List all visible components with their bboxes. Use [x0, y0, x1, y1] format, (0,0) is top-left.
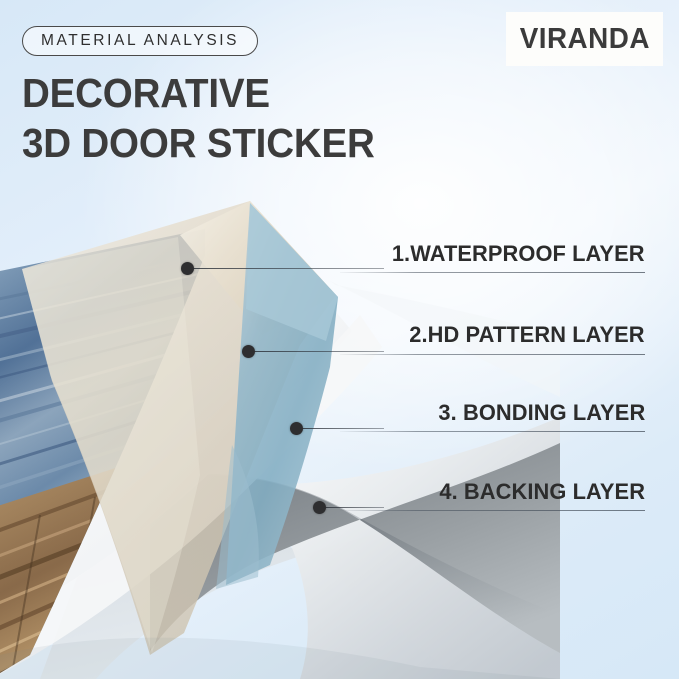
- badge-label: MATERIAL ANALYSIS: [41, 32, 239, 50]
- callout-dot-waterproof: [181, 262, 194, 275]
- leader-line-bonding: [302, 428, 384, 429]
- callout-rule-waterproof: [340, 272, 645, 273]
- callout-dot-pattern: [242, 345, 255, 358]
- title-line-1: DECORATIVE: [22, 68, 454, 118]
- callout-dot-backing: [313, 501, 326, 514]
- brand-logo-box: VIRANDA: [506, 12, 663, 66]
- leader-line-pattern: [254, 351, 384, 352]
- callout-rule-bonding: [340, 431, 645, 432]
- leader-line-waterproof: [193, 268, 384, 269]
- callout-label-waterproof: 1.WATERPROOF LAYER: [384, 241, 645, 267]
- callout-label-bonding: 3. BONDING LAYER: [432, 400, 645, 426]
- infographic-canvas: MATERIAL ANALYSIS VIRANDA DECORATIVE 3D …: [0, 0, 679, 679]
- material-analysis-badge: MATERIAL ANALYSIS: [22, 26, 258, 56]
- callout-label-pattern: 2.HD PATTERN LAYER: [402, 322, 645, 348]
- brand-name: VIRANDA: [519, 23, 649, 56]
- page-title: DECORATIVE 3D DOOR STICKER: [22, 68, 482, 168]
- leader-line-backing: [325, 507, 384, 508]
- title-line-2: 3D DOOR STICKER: [22, 118, 454, 168]
- callout-label-backing: 4. BACKING LAYER: [433, 479, 645, 505]
- callout-rule-backing: [340, 510, 645, 511]
- callout-dot-bonding: [290, 422, 303, 435]
- callout-rule-pattern: [340, 354, 645, 355]
